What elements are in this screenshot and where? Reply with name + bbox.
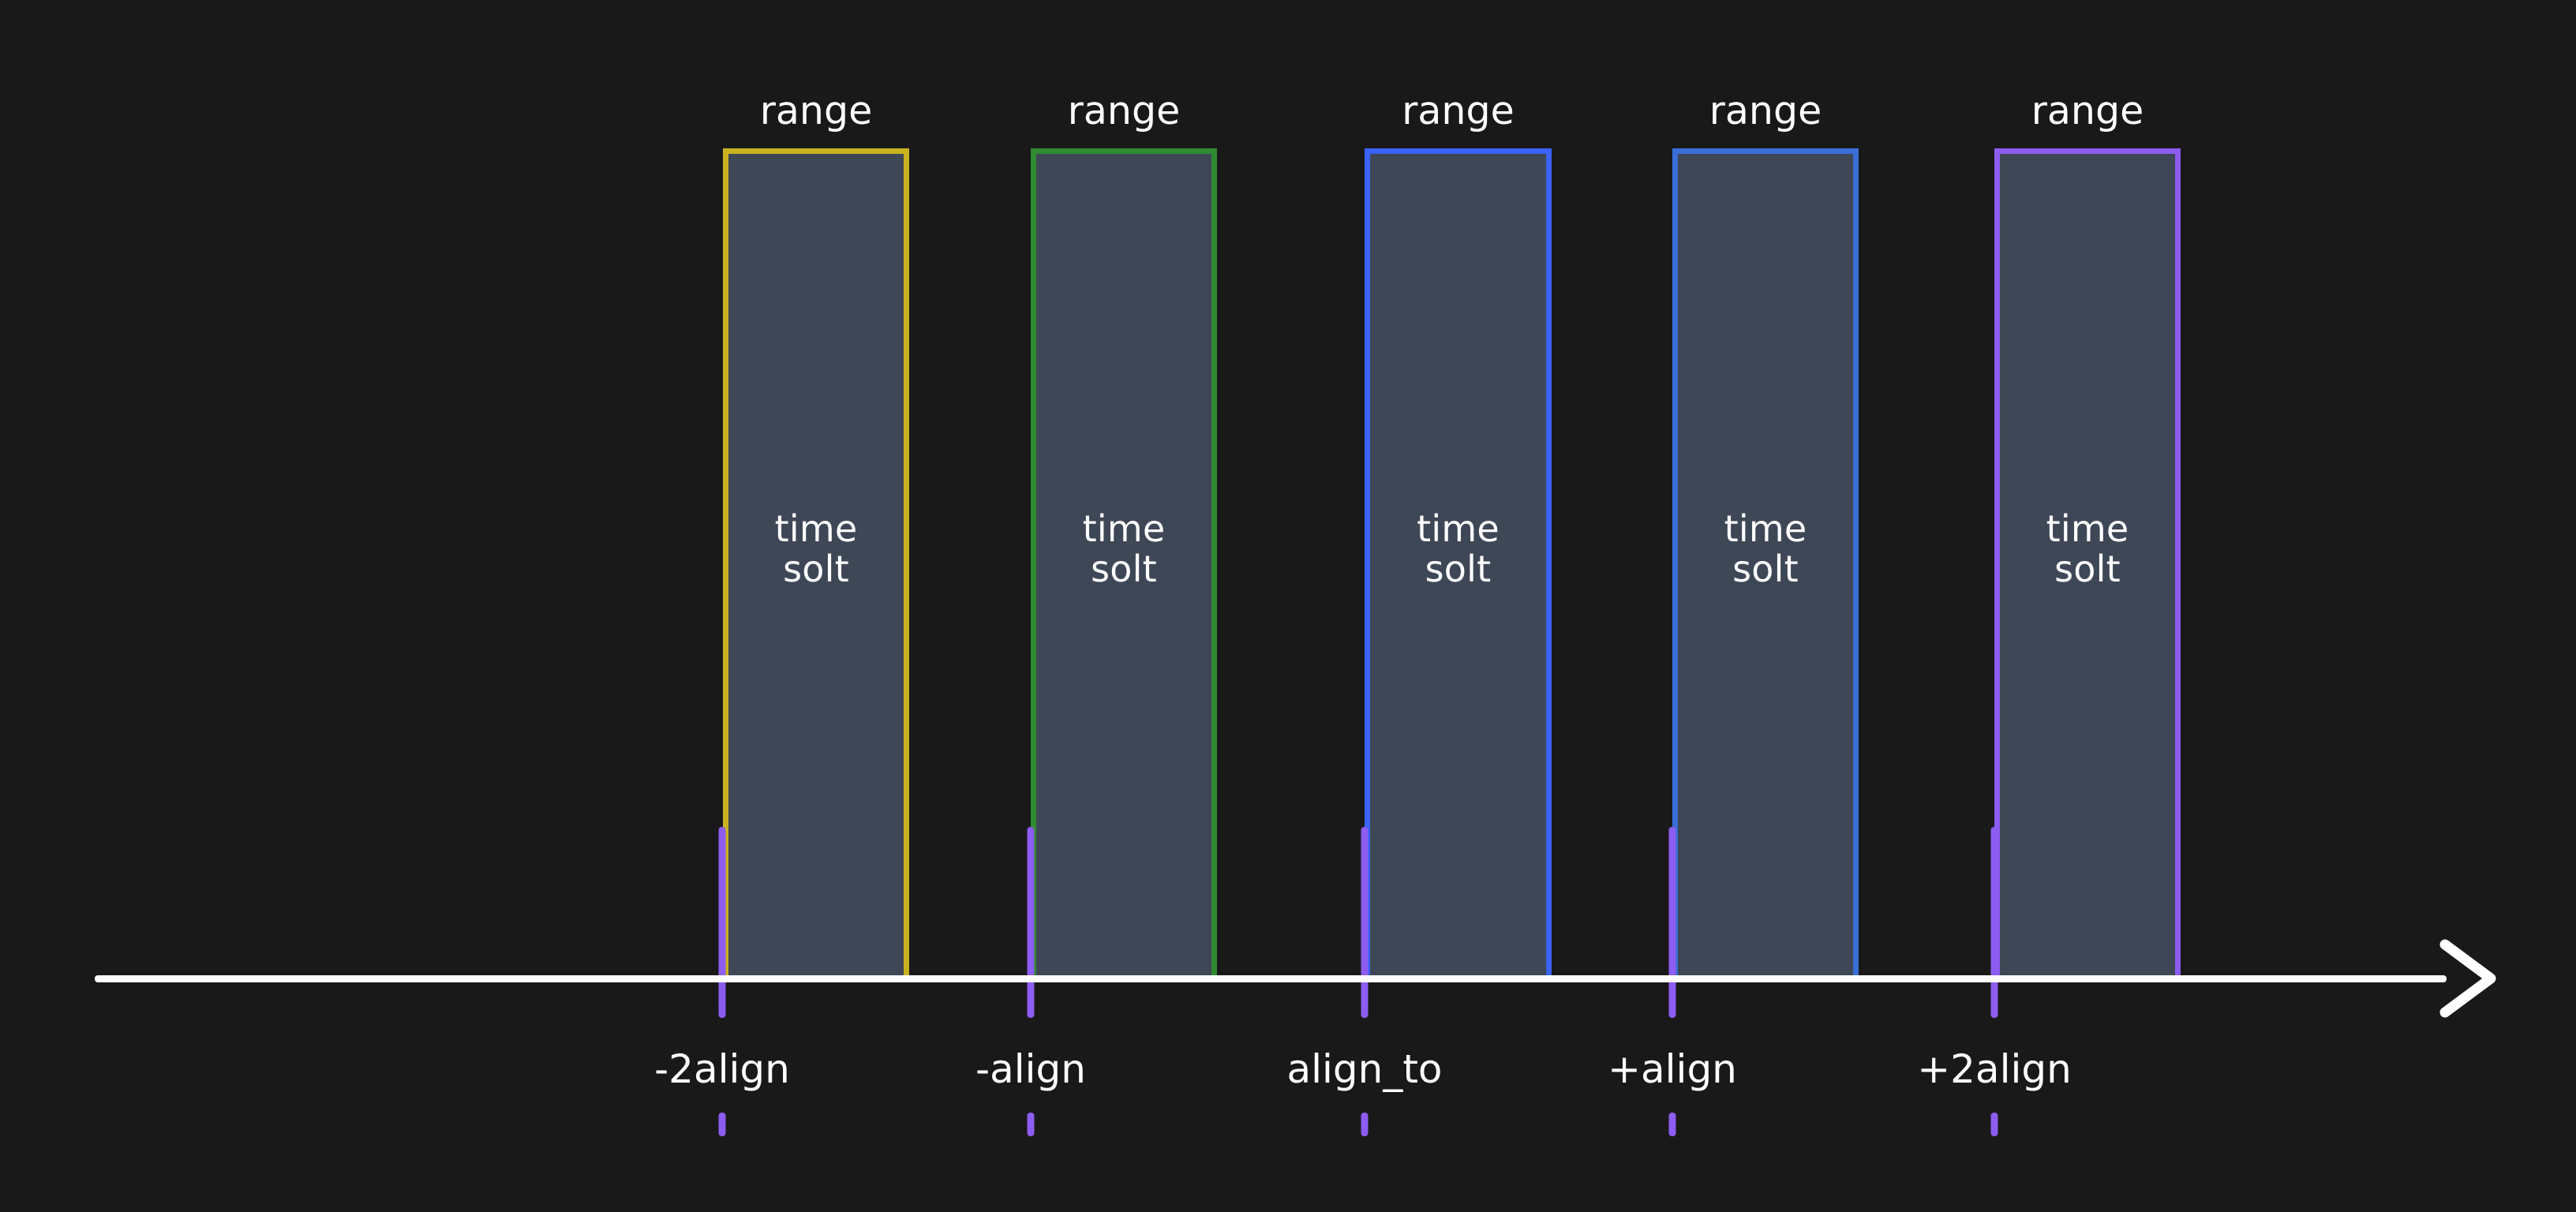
- tick-label: +align: [1608, 1049, 1737, 1089]
- tick-label: -align: [975, 1049, 1086, 1089]
- range-caption: range: [1068, 92, 1180, 130]
- tick-stub: [1028, 1113, 1035, 1136]
- range-box: [1672, 148, 1859, 982]
- tick-mark: [1028, 827, 1035, 1018]
- tick-stub: [1669, 1113, 1676, 1136]
- tick-label: +2align: [1917, 1049, 2072, 1089]
- tick-mark: [1669, 827, 1676, 1018]
- range-box: [1365, 148, 1552, 982]
- range-caption: range: [2031, 92, 2144, 130]
- time-axis-line: [95, 975, 2447, 982]
- range-box: [723, 148, 909, 982]
- tick-stub: [1991, 1113, 1998, 1136]
- diagram-canvas: rangetime soltrangetime soltrangetime so…: [0, 0, 2576, 1212]
- range-box: [1031, 148, 1217, 982]
- tick-mark: [1361, 827, 1368, 1018]
- tick-stub: [719, 1113, 726, 1136]
- tick-label: -2align: [654, 1049, 790, 1089]
- tick-mark: [719, 827, 726, 1018]
- range-caption: range: [760, 92, 872, 130]
- range-caption: range: [1402, 92, 1514, 130]
- range-box: [1994, 148, 2181, 982]
- range-caption: range: [1709, 92, 1822, 130]
- tick-mark: [1991, 827, 1998, 1018]
- tick-stub: [1361, 1113, 1368, 1136]
- tick-label: align_to: [1286, 1049, 1442, 1089]
